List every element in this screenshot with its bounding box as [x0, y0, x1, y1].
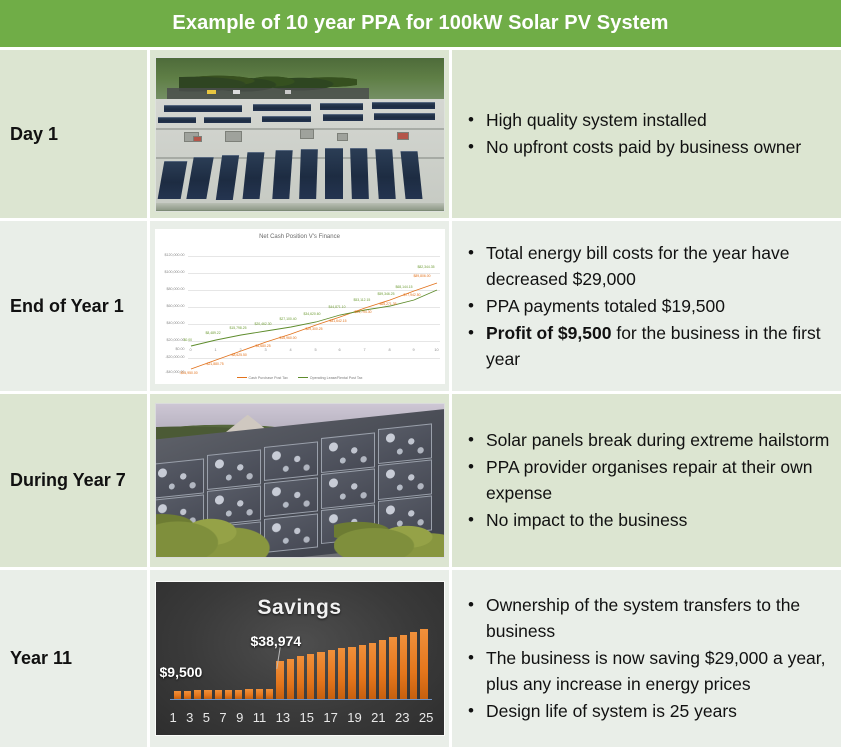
bar — [389, 637, 396, 699]
data-label: $44,871.10 — [329, 305, 346, 309]
x-tick-label: 3 — [186, 710, 193, 725]
bullet-list: Solar panels break during extreme hailst… — [464, 427, 835, 534]
x-tick-label: 25 — [419, 710, 433, 725]
bar — [338, 648, 345, 699]
bar — [420, 629, 427, 699]
bar — [348, 647, 355, 699]
table-row: Day 1 — [0, 47, 841, 218]
x-tick-label: 7 — [219, 710, 226, 725]
row-bullets-cell-year-11: Ownership of the system transfers to the… — [452, 570, 841, 747]
bullet-list: Ownership of the system transfers to the… — [464, 592, 835, 725]
data-label: $29,300.25 — [306, 327, 323, 331]
list-item: Profit of $9,500 for the business in the… — [484, 320, 835, 372]
bar — [400, 635, 407, 699]
list-item: PPA payments totaled $19,500 — [484, 293, 835, 319]
x-tick-label: 21 — [371, 710, 385, 725]
x-tick-label: 23 — [395, 710, 409, 725]
row-media-cell-during-year-7 — [150, 394, 452, 567]
legend-item-cash-purchase: Cash Purchase Post Tax — [237, 376, 288, 380]
slide-root: Example of 10 year PPA for 100kW Solar P… — [0, 0, 841, 747]
data-label: $41,642.15 — [330, 319, 347, 323]
x-axis-labels: 1 3 5 7 9 11 13 15 17 19 21 23 2 — [170, 710, 434, 725]
data-label: -$8,625.50 — [231, 353, 247, 357]
bar — [215, 690, 222, 699]
x-tick-label: 1 — [211, 348, 221, 352]
bullet-list: High quality system installed No upfront… — [464, 107, 801, 161]
slide-title-bar: Example of 10 year PPA for 100kW Solar P… — [0, 0, 841, 47]
row-media-cell-year-11: Savings — [150, 570, 452, 747]
foreground-shrub — [334, 505, 444, 558]
bar — [297, 656, 304, 699]
legend-swatch-icon — [298, 377, 308, 379]
list-item: Solar panels break during extreme hailst… — [484, 427, 835, 453]
table-row: During Year 7 — [0, 391, 841, 567]
data-label: $53,794.30 — [355, 310, 372, 314]
chart-legend: Cash Purchase Post Tax Operating Lease/R… — [156, 376, 444, 380]
x-tick-label: 5 — [203, 710, 210, 725]
list-item: PPA provider organises repair at their o… — [484, 454, 835, 506]
data-label: $8,489.22 — [206, 331, 221, 335]
list-item: No upfront costs paid by business owner — [484, 134, 801, 160]
table-row: Year 11 Savings — [0, 567, 841, 747]
data-label: $77,942.50 — [404, 293, 421, 297]
data-label: $89,806.00 — [414, 274, 431, 278]
foreground-shrub — [155, 494, 271, 558]
data-label: $4,680.25 — [256, 344, 271, 348]
net-cash-position-line-chart: Net Cash Position V's Finance $120,000.0… — [155, 229, 445, 384]
factory-roof — [156, 99, 444, 211]
bar — [287, 659, 294, 699]
row-bullets-cell-end-of-year-1: Total energy bill costs for the year hav… — [452, 221, 841, 391]
row-media-cell-day-1 — [150, 50, 452, 218]
list-item: Total energy bill costs for the year hav… — [484, 240, 835, 292]
roof-eave — [156, 203, 444, 211]
bar — [225, 690, 232, 699]
x-tick-label: 3 — [261, 348, 271, 352]
bar-series — [174, 607, 428, 699]
x-tick-label: 19 — [347, 710, 361, 725]
series-line-cash-purchase — [191, 283, 437, 369]
bar — [379, 640, 386, 699]
bar — [266, 689, 273, 699]
data-label: $82,344.35 — [418, 265, 435, 269]
row-bullets-cell-day-1: High quality system installed No upfront… — [452, 50, 841, 218]
annotation-first-year-savings: $9,500 — [160, 664, 203, 680]
data-label: $59,346.25 — [378, 292, 395, 296]
hail-damaged-panels-photo — [155, 403, 445, 558]
bar — [328, 650, 335, 699]
x-tick-label: 5 — [311, 348, 321, 352]
x-tick-label: 8 — [385, 348, 395, 352]
data-label: $16,960.00 — [280, 336, 297, 340]
aerial-rooftop-solar-photo — [155, 57, 445, 212]
x-tick-label: 10 — [432, 348, 442, 352]
bar — [317, 652, 324, 699]
x-tick-label: 6 — [335, 348, 345, 352]
bar — [174, 691, 181, 699]
bar — [194, 690, 201, 699]
data-label: $53,112.15 — [354, 298, 371, 302]
table-row: End of Year 1 Net Cash Position V's Fina… — [0, 218, 841, 391]
x-tick-label: 17 — [323, 710, 337, 725]
x-tick-label: 0 — [186, 348, 196, 352]
bar — [369, 643, 376, 699]
x-tick-label: 11 — [253, 710, 267, 725]
list-item: Ownership of the system transfers to the… — [484, 592, 835, 644]
list-item: No impact to the business — [484, 507, 835, 533]
x-tick-label: 7 — [360, 348, 370, 352]
row-bullets-cell-during-year-7: Solar panels break during extreme hailst… — [452, 394, 841, 567]
x-tick-label: 9 — [409, 348, 419, 352]
legend-swatch-icon — [237, 377, 247, 379]
x-tick-label: 9 — [236, 710, 243, 725]
savings-bar-chart: Savings — [155, 581, 445, 736]
vehicle-icon — [285, 90, 291, 94]
x-tick-label: 4 — [286, 348, 296, 352]
row-label-cell-during-year-7: During Year 7 — [0, 394, 150, 567]
data-label: $34,620.60 — [304, 312, 321, 316]
bar — [245, 689, 252, 699]
x-axis-line — [170, 699, 432, 700]
bar — [307, 654, 314, 699]
row-label: End of Year 1 — [10, 296, 124, 317]
data-label: $68,144.15 — [396, 285, 413, 289]
page-title: Example of 10 year PPA for 100kW Solar P… — [172, 12, 668, 35]
chart-plot-area — [156, 230, 445, 384]
list-item: High quality system installed — [484, 107, 801, 133]
bar — [359, 645, 366, 699]
bar — [204, 690, 211, 699]
x-tick-label: 15 — [299, 710, 313, 725]
x-tick-label: 2 — [236, 348, 246, 352]
bar — [184, 691, 191, 699]
legend-item-operating-lease: Operating Lease/Rental Post Tax — [298, 376, 363, 380]
legend-label: Cash Purchase Post Tax — [249, 376, 288, 380]
row-label: Day 1 — [10, 124, 58, 145]
bullet-list: Total energy bill costs for the year hav… — [464, 240, 835, 373]
row-label: During Year 7 — [10, 470, 126, 491]
bar — [235, 690, 242, 699]
x-tick-label: 1 — [170, 710, 177, 725]
list-item: Design life of system is 25 years — [484, 698, 835, 724]
vehicle-icon — [207, 90, 216, 94]
row-label-cell-day-1: Day 1 — [0, 50, 150, 218]
data-label: $27,100.40 — [280, 317, 297, 321]
legend-label: Operating Lease/Rental Post Tax — [310, 376, 363, 380]
data-label: $20,462.30 — [255, 322, 272, 326]
data-label: $15,798.25 — [230, 326, 247, 330]
row-label-cell-end-of-year-1: End of Year 1 — [0, 221, 150, 391]
annotation-year-11-savings: $38,974 — [251, 633, 302, 649]
data-label: -$21,880.75 — [206, 362, 224, 366]
x-tick-label: 13 — [276, 710, 290, 725]
bar — [410, 632, 417, 699]
data-label: $65,271.35 — [380, 302, 397, 306]
list-item: The business is now saving $29,000 a yea… — [484, 645, 835, 697]
series-line-operating-lease — [191, 290, 437, 346]
bold-highlight: Profit of $9,500 — [486, 323, 611, 343]
data-label: $0.00 — [184, 338, 193, 342]
data-label: -$34,950.00 — [180, 371, 198, 375]
timeline-table: Day 1 — [0, 47, 841, 747]
bar — [256, 689, 263, 699]
row-media-cell-end-of-year-1: Net Cash Position V's Finance $120,000.0… — [150, 221, 452, 391]
vehicle-icon — [233, 90, 240, 94]
row-label-cell-year-11: Year 11 — [0, 570, 150, 747]
row-label: Year 11 — [10, 648, 72, 669]
